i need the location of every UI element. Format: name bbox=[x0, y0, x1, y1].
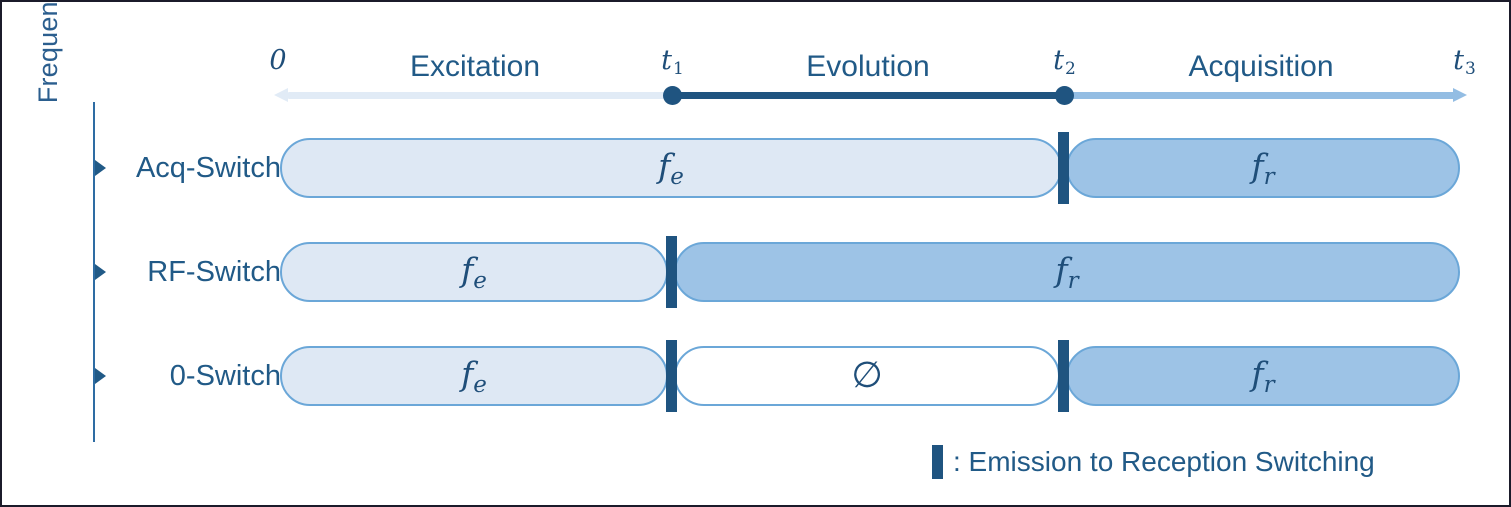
timeline-marker-t1 bbox=[663, 86, 682, 105]
timeline-tick-t1: t1 bbox=[642, 44, 702, 81]
y-axis-label: Frequency Switching bbox=[30, 0, 66, 146]
row-label-acq-switch-text: Acq-Switch bbox=[110, 148, 281, 188]
timeline-tick-t2-sub: 2 bbox=[1065, 59, 1076, 79]
figure-canvas: Frequency Switching Excitation Evolution… bbox=[0, 0, 1511, 507]
legend: : Emission to Reception Switching bbox=[932, 442, 1375, 482]
timeline-tick-t2: t2 bbox=[1034, 44, 1094, 81]
segment-acq-switch-fe[interactable]: fe bbox=[280, 138, 1062, 198]
row-label-rf-switch-text: RF-Switch bbox=[110, 252, 281, 292]
legend-label: : Emission to Reception Switching bbox=[953, 445, 1375, 479]
switch-marker-rf-t1 bbox=[666, 236, 677, 308]
timeline-segment-excitation bbox=[288, 92, 664, 99]
row-label-zero-switch-text: 0-Switch bbox=[110, 356, 281, 396]
switch-marker-zero-t1 bbox=[666, 340, 677, 412]
timeline-tick-t3-sub: 3 bbox=[1465, 59, 1476, 79]
timeline-marker-t2 bbox=[1055, 86, 1074, 105]
timeline-segment-evolution bbox=[664, 92, 1072, 99]
timeline-phase-evolution: Evolution bbox=[768, 50, 968, 84]
legend-switch-bar-icon bbox=[932, 445, 943, 479]
segment-rf-switch-fe[interactable]: fe bbox=[280, 242, 668, 302]
segment-label-acq-fr: fr bbox=[1251, 147, 1274, 189]
timeline-segment-acquisition bbox=[1072, 92, 1454, 99]
row-marker-triangle-icon bbox=[95, 368, 106, 384]
timeline-tick-t0: 0 bbox=[248, 44, 308, 78]
timeline-tick-t2-label: t bbox=[1053, 45, 1064, 76]
row-label-rf-switch: RF-Switch bbox=[95, 252, 281, 292]
segment-label-zero-empty: ∅ bbox=[851, 357, 882, 395]
segment-label-zero-fr: fr bbox=[1251, 355, 1274, 397]
switch-marker-acq-t2 bbox=[1058, 132, 1069, 204]
timeline-tick-t3-label: t bbox=[1453, 45, 1464, 76]
row-marker-triangle-icon bbox=[95, 264, 106, 280]
timeline-phase-excitation: Excitation bbox=[375, 50, 575, 84]
segment-label-acq-fe: fe bbox=[658, 147, 684, 189]
segment-label-rf-fr: fr bbox=[1055, 251, 1078, 293]
timeline-end-arrow-icon bbox=[1453, 88, 1467, 102]
segment-zero-switch-fe[interactable]: fe bbox=[280, 346, 668, 406]
segment-label-rf-fe: fe bbox=[461, 251, 487, 293]
timeline-tick-t1-label: t bbox=[661, 45, 672, 76]
switch-marker-zero-t2 bbox=[1058, 340, 1069, 412]
timeline-start-arrow-icon bbox=[274, 88, 288, 102]
timeline-phase-acquisition: Acquisition bbox=[1161, 50, 1361, 84]
timeline-tick-t0-label: 0 bbox=[269, 45, 286, 76]
segment-label-zero-fe: fe bbox=[461, 355, 487, 397]
segment-zero-switch-fr[interactable]: fr bbox=[1066, 346, 1460, 406]
row-label-acq-switch: Acq-Switch bbox=[95, 148, 281, 188]
segment-rf-switch-fr[interactable]: fr bbox=[674, 242, 1460, 302]
timeline-tick-t1-sub: 1 bbox=[673, 59, 684, 79]
timeline-tick-t3: t3 bbox=[1434, 44, 1494, 81]
row-label-zero-switch: 0-Switch bbox=[95, 356, 281, 396]
segment-zero-switch-empty[interactable]: ∅ bbox=[674, 346, 1060, 406]
row-marker-triangle-icon bbox=[95, 160, 106, 176]
segment-acq-switch-fr[interactable]: fr bbox=[1066, 138, 1460, 198]
